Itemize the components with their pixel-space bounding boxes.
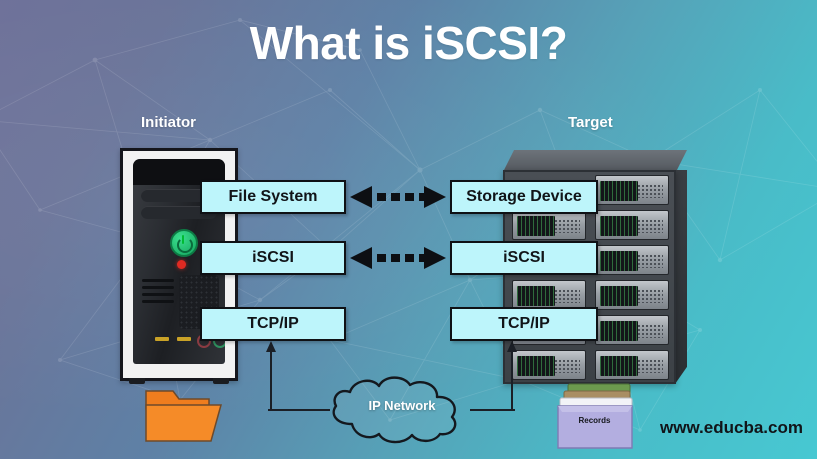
initiator-label: Initiator	[141, 114, 196, 131]
page-title: What is iSCSI?	[0, 16, 817, 70]
power-button-icon[interactable]	[170, 229, 198, 257]
ip-network-cloud: IP Network	[322, 372, 482, 446]
server-blade	[595, 315, 669, 345]
site-watermark: www.educba.com	[660, 418, 803, 438]
protocol-box-tcpip-right[interactable]: TCP/IP	[450, 307, 598, 341]
server-blade	[512, 280, 586, 310]
bidirectional-dashed-arrow-icon	[350, 184, 446, 210]
protocol-box-tcpip-left[interactable]: TCP/IP	[200, 307, 346, 341]
server-blade	[595, 175, 669, 205]
server-blade	[512, 210, 586, 240]
protocol-box-iscsi-left[interactable]: iSCSI	[200, 241, 346, 275]
records-folder-icon[interactable]: Records	[548, 382, 641, 451]
front-slot	[155, 337, 169, 341]
server-blade	[512, 350, 586, 380]
protocol-box-file-system[interactable]: File System	[200, 180, 346, 214]
front-slot	[177, 337, 191, 341]
vent-slot	[142, 293, 174, 296]
server-blade	[595, 280, 669, 310]
status-led-icon	[177, 260, 186, 269]
server-blade	[595, 350, 669, 380]
vent-slot	[142, 286, 174, 289]
server-blade	[595, 245, 669, 275]
records-folder-label: Records	[548, 416, 641, 425]
protocol-box-storage-device[interactable]: Storage Device	[450, 180, 598, 214]
power-ring	[177, 237, 193, 253]
server-blade	[595, 210, 669, 240]
rack-top	[503, 150, 687, 172]
open-folder-icon[interactable]	[143, 383, 225, 445]
diagram-canvas: What is iSCSI? Initiator Target	[0, 0, 817, 459]
rack-side	[675, 170, 687, 384]
target-label: Target	[568, 114, 613, 131]
bidirectional-dashed-arrow-icon	[350, 245, 446, 271]
vent-slot	[142, 300, 174, 303]
protocol-box-iscsi-right[interactable]: iSCSI	[450, 241, 598, 275]
vent-slot	[142, 279, 174, 282]
ip-network-label: IP Network	[322, 398, 482, 413]
